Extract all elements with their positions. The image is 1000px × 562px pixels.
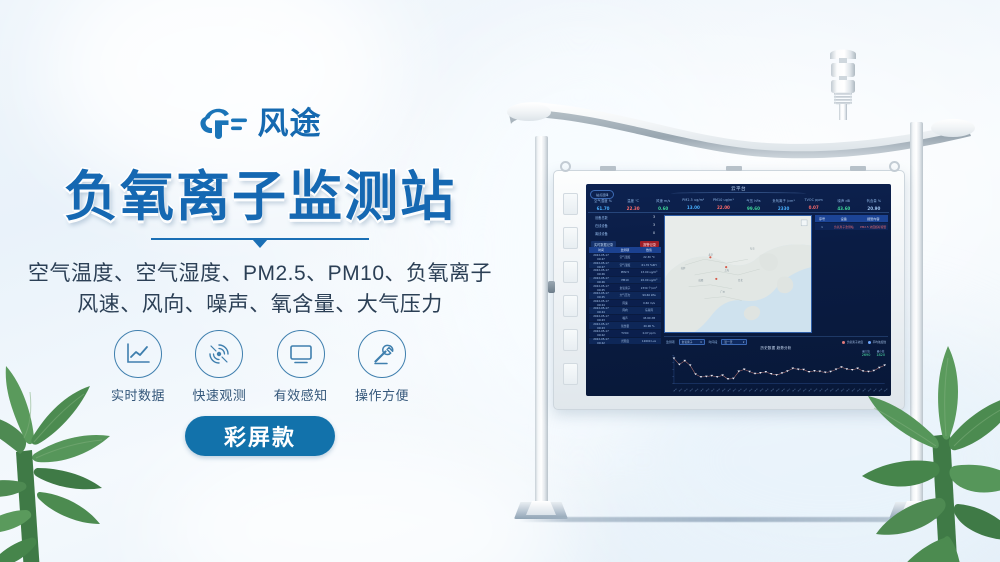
china-map[interactable]: 北京 上海 成都 广州 东京 拉萨 台北: [664, 215, 812, 333]
stat-key: 离线设备: [595, 231, 608, 236]
divider-triangle-icon: [151, 238, 369, 240]
alarm-column: 序号: [815, 216, 829, 221]
table-cell: 风向: [613, 308, 637, 312]
wind-cloud-logo-icon: [199, 104, 249, 142]
table-cell: 负氧离子: [613, 286, 637, 290]
data-table: 2022-05-17 09:47空气温度22.30 ℃2022-05-17 09…: [589, 254, 661, 344]
promo-banner: 云平台 站点选择 空气湿度 %61.70温度 ℃22.30风速 m/s0.60P…: [0, 0, 1000, 562]
chart-select-a[interactable]: 负氧离子 ▾: [679, 339, 705, 345]
svg-text:东京: 东京: [750, 246, 755, 250]
alarm-cell: 1: [815, 225, 829, 229]
table-row[interactable]: 2022-05-17 09:43噪声43.60 dB: [589, 315, 661, 322]
table-cell: 东南风: [637, 308, 661, 312]
svg-text:09:43: 09:43: [689, 388, 694, 392]
feature-label: 快速观测: [186, 385, 252, 404]
svg-text:09:48: 09:48: [716, 388, 721, 392]
chart-plot: 09:4009:4109:4209:4309:4409:4509:4609:47…: [664, 353, 888, 393]
table-row[interactable]: 2022-05-17 09:42TVOC0.07 ppm: [589, 330, 661, 337]
feature-item-easy-operation[interactable]: 操作方便: [349, 330, 415, 404]
svg-text:09:43: 09:43: [743, 388, 748, 392]
alarm-column-header: 序号设备报警内容: [815, 215, 888, 222]
table-row[interactable]: 2022-05-17 09:42光照度12600 Lux: [589, 338, 661, 345]
ground-shadow: [519, 517, 937, 522]
metric-key: 温度 ℃: [618, 198, 648, 203]
metric-value: 99.60: [738, 206, 768, 211]
display-cabinet: 云平台 站点选择 空气湿度 %61.70温度 ℃22.30风速 m/s0.60P…: [553, 170, 905, 410]
table-row[interactable]: 2022-05-17 09:47空气湿度61.70 %RH: [589, 262, 661, 269]
wrench-icon: [358, 330, 406, 378]
metric-cell: 氧含量 %20.90: [859, 198, 889, 211]
svg-text:09:44: 09:44: [803, 388, 808, 392]
curved-canopy: [505, 100, 975, 160]
monitor-icon: [277, 330, 325, 378]
svg-text:09:49: 09:49: [884, 388, 888, 392]
metric-cell: PM2.5 ug/m³13.00: [678, 198, 708, 211]
table-row[interactable]: 2022-05-17 09:46PM2.513.00 ug/m³: [589, 269, 661, 276]
device-stats: 设备总数3在线设备3离线设备0: [589, 215, 661, 236]
table-row[interactable]: 2022-05-17 09:44风速0.60 m/s: [589, 300, 661, 307]
table-tag: 实时数据记录: [591, 241, 616, 247]
metric-key: 负氧离子 /cm³: [769, 198, 799, 203]
divider: [588, 212, 889, 213]
alarm-column: 设备: [829, 216, 859, 221]
svg-text:09:47: 09:47: [873, 388, 878, 392]
stat-row: 设备总数3: [589, 215, 661, 220]
legend-label: 负氧离子浓度: [847, 340, 863, 344]
table-row[interactable]: 2022-05-17 09:44风向东南风: [589, 307, 661, 314]
svg-text:09:41: 09:41: [841, 388, 846, 392]
svg-text:09:43: 09:43: [851, 388, 856, 392]
brand-logo[interactable]: 风途: [0, 104, 520, 142]
svg-text:09:45: 09:45: [754, 388, 759, 392]
metric-cell: 温度 ℃22.30: [618, 198, 648, 211]
svg-text:09:45: 09:45: [700, 388, 705, 392]
stat-key: 设备总数: [595, 215, 608, 220]
vent-slot: [563, 193, 578, 215]
svg-text:09:42: 09:42: [684, 388, 689, 392]
metric-key: TVOC ppm: [799, 198, 829, 202]
chart-select-a-value: 负氧离子: [682, 340, 693, 344]
line-chart-icon: [114, 330, 162, 378]
page-title: 负氧离子监测站: [0, 152, 520, 231]
table-cell: 13.00 ug/m³: [637, 270, 661, 274]
stat-value: 3: [653, 215, 655, 220]
brand-name: 风途: [258, 108, 322, 139]
table-cell: 99.60 kPa: [637, 293, 661, 297]
svg-text:09:41: 09:41: [733, 388, 738, 392]
hero-text-panel: 风途 负氧离子监测站 空气温度、空气湿度、PM2.5、PM10、负氧离子 风速、…: [0, 0, 520, 562]
svg-text:09:46: 09:46: [868, 388, 873, 392]
table-cell: 61.70 %RH: [637, 263, 661, 267]
metric-key: 气压 hPa: [738, 198, 768, 203]
chart-select-b[interactable]: 近一天 ▾: [721, 339, 747, 345]
feature-label: 有效感知: [268, 385, 334, 404]
svg-text:09:40: 09:40: [781, 388, 786, 392]
svg-text:上海: 上海: [724, 268, 729, 272]
table-cell: 大气压力: [613, 293, 637, 297]
vent-slot: [563, 295, 578, 317]
svg-text:09:42: 09:42: [792, 388, 797, 392]
chart-legend: 负氧离子浓度平均浓度线: [842, 340, 886, 344]
metric-key: 空气湿度 %: [588, 198, 618, 203]
metric-cell: 负氧离子 /cm³2330: [769, 198, 799, 211]
metric-cell: TVOC ppm0.07: [799, 198, 829, 211]
svg-text:09:48: 09:48: [878, 388, 883, 392]
metric-value: 2330: [769, 206, 799, 211]
left-panel: 设备总数3在线设备3离线设备0 实时数据记录 报警记录 时间监测项数值 2022…: [589, 215, 661, 393]
color-screen-model-button[interactable]: 彩屏款: [185, 416, 335, 456]
support-post-left: [535, 136, 548, 508]
chevron-down-icon: ▾: [700, 340, 701, 344]
svg-text:09:44: 09:44: [695, 388, 700, 392]
table-cell: 2022-05-17 09:42: [589, 337, 613, 345]
table-cell: 20.90 %: [637, 324, 661, 328]
feature-item-realtime-data[interactable]: 实时数据: [105, 330, 171, 404]
stat-row: 在线设备3: [589, 223, 661, 228]
legend-label: 平均浓度线: [873, 340, 886, 344]
table-cell: 空气湿度: [613, 263, 637, 267]
svg-text:广州: 广州: [720, 290, 725, 294]
metric-value: 0.60: [648, 206, 678, 211]
table-row[interactable]: 2022-05-17 09:43氧含量20.90 %: [589, 322, 661, 329]
svg-text:09:40: 09:40: [835, 388, 840, 392]
feature-item-fast-observation[interactable]: 快速观测: [186, 330, 252, 404]
svg-text:09:47: 09:47: [711, 388, 716, 392]
table-cell: PM10: [613, 278, 637, 282]
table-cell: TVOC: [613, 331, 637, 335]
metric-key: 氧含量 %: [859, 198, 889, 203]
svg-text:09:45: 09:45: [808, 388, 813, 392]
svg-text:09:44: 09:44: [749, 388, 754, 392]
title-underline: [671, 192, 805, 195]
svg-text:09:47: 09:47: [765, 388, 770, 392]
alarm-list: 1负氧离子监测站PM2.5 浓度超标报警: [815, 223, 888, 230]
mount-bolt: [726, 166, 742, 171]
svg-text:09:41: 09:41: [679, 388, 684, 392]
metric-cell: 噪声 dB43.60: [829, 198, 859, 211]
svg-text:09:40: 09:40: [727, 388, 732, 392]
monitoring-station-kiosk: 云平台 站点选择 空气湿度 %61.70温度 ℃22.30风速 m/s0.60P…: [505, 40, 975, 535]
cabinet-lock-icon: [548, 281, 555, 293]
table-cell: 43.60 dB: [637, 316, 661, 320]
svg-text:09:41: 09:41: [787, 388, 792, 392]
trend-chart-panel: 监测项 负氧离子 ▾ 时间段 近一天 ▾ 负氧离子浓度平均浓度线 历史数据 趋势…: [664, 336, 888, 393]
vent-slot: [563, 363, 578, 385]
table-cell: PM2.5: [613, 270, 637, 274]
svg-text:09:49: 09:49: [722, 388, 727, 392]
svg-text:09:49: 09:49: [776, 388, 781, 392]
svg-text:09:42: 09:42: [738, 388, 743, 392]
alarm-tag[interactable]: 报警记录: [640, 241, 659, 247]
svg-text:09:43: 09:43: [797, 388, 802, 392]
legend-swatch: [868, 341, 871, 344]
svg-text:台北: 台北: [738, 278, 743, 282]
metric-key: 噪声 dB: [829, 198, 859, 203]
subtitle-line-2: 风速、风向、噪声、氧含量、大气压力: [0, 289, 520, 320]
svg-text:09:46: 09:46: [706, 388, 711, 392]
table-cell: 0.07 ppm: [637, 331, 661, 335]
feature-label: 实时数据: [105, 385, 171, 404]
svg-text:拉萨: 拉萨: [681, 266, 686, 270]
table-cell: 氧含量: [613, 324, 637, 328]
feature-label: 操作方便: [349, 385, 415, 404]
chart-select-a-label: 监测项: [666, 340, 675, 344]
metrics-bar: 空气湿度 %61.70温度 ℃22.30风速 m/s0.60PM2.5 ug/m…: [588, 198, 889, 211]
metric-cell: 气压 hPa99.60: [738, 198, 768, 211]
chart-select-b-value: 近一天: [724, 340, 732, 344]
metric-key: 风速 m/s: [648, 198, 678, 203]
feature-list: 实时数据 快速观: [105, 330, 415, 404]
alarm-cell: PM2.5 浓度超标报警: [859, 225, 889, 229]
svg-text:09:46: 09:46: [814, 388, 819, 392]
metric-value: 61.70: [588, 206, 618, 211]
table-cell: 空气温度: [613, 255, 637, 259]
table-column: 监测项: [613, 248, 637, 252]
table-row[interactable]: 2022-05-17 09:47空气温度22.30 ℃: [589, 254, 661, 261]
ultrasonic-weather-sensor: [823, 48, 863, 122]
svg-text:09:49: 09:49: [830, 388, 835, 392]
stat-row: 离线设备0: [589, 231, 661, 236]
legend-swatch: [842, 341, 845, 344]
radar-scan-icon: [195, 330, 243, 378]
metric-cell: 风速 m/s0.60: [648, 198, 678, 211]
dashboard-screen: 云平台 站点选择 空气湿度 %61.70温度 ℃22.30风速 m/s0.60P…: [586, 184, 891, 396]
table-cell: 0.60 m/s: [637, 301, 661, 305]
support-post-right: [910, 122, 923, 508]
mount-bolt: [600, 166, 616, 171]
legend-entry[interactable]: 平均浓度线: [868, 340, 886, 344]
alarm-cell: 负氧离子监测站: [829, 225, 859, 229]
chart-title: 历史数据 趋势分析: [664, 345, 888, 350]
metric-cell: PM10 ug/m³22.00: [708, 198, 738, 211]
svg-text:北京: 北京: [708, 252, 713, 256]
stat-key: 在线设备: [595, 223, 608, 228]
metric-value: 22.00: [708, 205, 738, 210]
svg-text:09:42: 09:42: [846, 388, 851, 392]
alarm-row[interactable]: 1负氧离子监测站PM2.5 浓度超标报警: [815, 223, 888, 230]
svg-text:09:48: 09:48: [770, 388, 775, 392]
metric-key: PM2.5 ug/m³: [678, 198, 708, 202]
svg-text:09:47: 09:47: [819, 388, 824, 392]
table-row[interactable]: 2022-05-17 09:45大气压力99.60 kPa: [589, 292, 661, 299]
table-column-header: 时间监测项数值: [589, 247, 661, 253]
metric-value: 20.90: [859, 206, 889, 211]
hanger-ring-left: [560, 161, 571, 172]
chart-select-b-label: 时间段: [709, 340, 718, 344]
table-column: 数值: [637, 248, 661, 252]
metric-value: 13.00: [678, 205, 708, 210]
svg-text:09:40: 09:40: [673, 388, 678, 392]
subtitle-line-1: 空气温度、空气湿度、PM2.5、PM10、负氧离子: [0, 258, 520, 289]
table-cell: 22.00 ug/m³: [637, 278, 661, 282]
svg-text:09:48: 09:48: [824, 388, 829, 392]
mount-bolt: [850, 166, 866, 171]
table-cell: 光照度: [613, 339, 637, 343]
table-cell: 噪声: [613, 316, 637, 320]
table-cell: 2330 个/cm³: [637, 286, 661, 290]
table-column: 时间: [589, 248, 613, 252]
metric-value: 22.30: [618, 206, 648, 211]
feature-item-effective-sensing[interactable]: 有效感知: [268, 330, 334, 404]
metric-value: 0.07: [799, 205, 829, 210]
svg-text:09:46: 09:46: [760, 388, 765, 392]
table-cell: 22.30 ℃: [637, 255, 661, 259]
alarm-column: 报警内容: [859, 216, 889, 221]
table-row[interactable]: 2022-05-17 09:45负氧离子2330 个/cm³: [589, 284, 661, 291]
svg-text:成都: 成都: [699, 278, 704, 282]
chevron-down-icon: ▾: [743, 340, 744, 344]
stat-value: 3: [653, 223, 655, 228]
svg-text:09:45: 09:45: [862, 388, 867, 392]
vent-slot: [563, 261, 578, 283]
vent-slot: [563, 227, 578, 249]
table-cell: 风速: [613, 301, 637, 305]
vent-slot: [563, 329, 578, 351]
table-cell: 12600 Lux: [637, 339, 661, 343]
metric-cell: 空气湿度 %61.70: [588, 198, 618, 211]
svg-text:09:44: 09:44: [857, 388, 862, 392]
subtitle-block: 空气温度、空气湿度、PM2.5、PM10、负氧离子 风速、风向、噪声、氧含量、大…: [0, 258, 520, 320]
metric-key: PM10 ug/m³: [708, 198, 738, 202]
table-row[interactable]: 2022-05-17 09:46PM1022.00 ug/m³: [589, 277, 661, 284]
metric-value: 43.60: [829, 206, 859, 211]
hanger-ring-right: [889, 161, 900, 172]
legend-entry[interactable]: 负氧离子浓度: [842, 340, 863, 344]
stat-value: 0: [653, 231, 655, 236]
